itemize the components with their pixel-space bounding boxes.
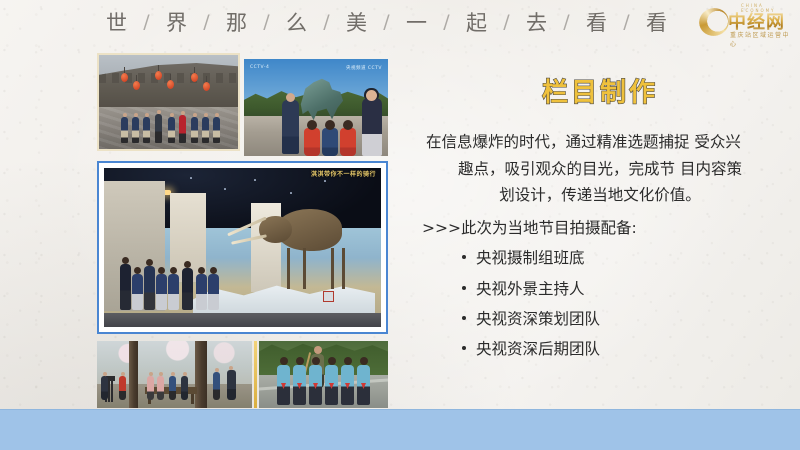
photo-collage: CCTV-4 央视频道 CCTV — [97, 53, 388, 408]
tree-trunk — [129, 341, 138, 408]
intro-paragraph: 在信息爆炸的时代，通过精准选题捕捉 受众兴 趣点，吸引观众的目光，完成节 目内容… — [426, 129, 774, 209]
photo-horse-statue-interview[interactable]: CCTV-4 央视频道 CCTV — [244, 59, 388, 156]
person-figure — [181, 376, 188, 400]
paragraph-line-2: 趣点，吸引观众的目光，完成节 目内容策 — [458, 160, 742, 178]
mammoth-leg — [303, 248, 306, 289]
photo-divider — [254, 341, 257, 408]
teacher-figure — [182, 268, 193, 310]
page-title: 栏目制作 — [420, 72, 780, 109]
visitor-figure — [156, 274, 167, 310]
header-char-0: 世 — [100, 7, 133, 37]
paragraph-line-3: 划设计，传递当地文化价值。 — [499, 186, 701, 204]
header-char-5: 一 — [400, 7, 433, 37]
child-figure — [322, 128, 338, 156]
lantern-icon — [155, 71, 162, 80]
photo-inner: 淇淇带你不一样的骑行 — [104, 168, 381, 327]
page-header: 世 / 界 / 那 / 么 / 美 / 一 / 起 / 去 / 看 / 看 CH… — [0, 0, 800, 48]
lantern-icon — [203, 82, 210, 91]
person-figure — [132, 117, 139, 143]
person-figure — [191, 117, 198, 143]
header-sep-1: / — [193, 11, 220, 33]
student-figure — [325, 365, 338, 405]
child-figure — [340, 128, 356, 156]
logo-swoosh-icon — [696, 5, 731, 39]
person-figure — [213, 117, 220, 143]
person-figure — [213, 372, 220, 400]
header-sep-2: / — [253, 11, 280, 33]
header-char-6: 起 — [460, 7, 493, 37]
footer-band — [0, 410, 800, 450]
woman-figure — [362, 98, 382, 156]
student-figure — [293, 365, 306, 405]
header-sep-0: / — [133, 11, 160, 33]
person-figure — [147, 376, 154, 400]
person-figure — [168, 117, 175, 143]
photo-watermark-left: CCTV-4 — [250, 65, 269, 70]
lantern-icon — [191, 73, 198, 82]
person-figure — [119, 376, 126, 400]
lantern-icon — [133, 81, 140, 90]
student-figure — [341, 365, 354, 405]
child-figure — [304, 128, 320, 156]
header-char-2: 那 — [220, 7, 253, 37]
lantern-icon — [167, 80, 174, 89]
person-figure — [202, 117, 209, 143]
header-sep-7: / — [553, 11, 580, 33]
photo-museum-mammoth[interactable]: 淇淇带你不一样的骑行 — [97, 161, 388, 334]
visitor-figure — [196, 274, 207, 310]
visitor-figure — [168, 274, 179, 310]
crew-figure — [101, 376, 108, 400]
ceiling-star — [224, 188, 226, 190]
lantern-icon — [121, 73, 128, 82]
photo-watermark-right: 央视频道 CCTV — [346, 65, 382, 71]
header-sep-6: / — [493, 11, 520, 33]
tree-trunk — [195, 341, 207, 408]
visitor-figure — [208, 274, 219, 310]
host-figure — [282, 100, 299, 154]
visitor-figure — [144, 266, 155, 310]
crew-bullet-list: 央视摄制组班底 央视外景主持人 央视资深策划团队 央视资深后期团队 — [420, 243, 780, 364]
header-sep-8: / — [613, 11, 640, 33]
photo-outdoor-filming[interactable] — [97, 341, 252, 408]
photo-great-wall-group[interactable] — [97, 53, 240, 151]
header-sep-4: / — [373, 11, 400, 33]
crew-figure — [227, 370, 236, 400]
list-lead-in: >>>此次为当地节目拍摄配备: — [422, 215, 780, 241]
header-char-3: 么 — [280, 7, 313, 37]
header-char-9: 看 — [640, 7, 673, 37]
photo-students-road[interactable] — [259, 341, 388, 408]
logo-sub-text: 重庆站区域运营中心 — [730, 30, 795, 48]
person-figure — [157, 376, 164, 400]
list-item: 央视外景主持人 — [462, 274, 780, 304]
student-figure — [357, 365, 370, 405]
person-figure — [143, 117, 150, 143]
person-figure — [121, 117, 128, 143]
student-figure — [277, 365, 290, 405]
header-char-1: 界 — [160, 7, 193, 37]
ceiling-star — [290, 192, 292, 194]
list-item: 央视摄制组班底 — [462, 243, 780, 273]
mammoth-leg — [331, 248, 334, 289]
header-char-4: 美 — [340, 7, 373, 37]
person-figure — [155, 114, 162, 143]
header-sep-5: / — [433, 11, 460, 33]
person-figure — [169, 376, 176, 400]
header-slogan: 世 / 界 / 那 / 么 / 美 / 一 / 起 / 去 / 看 / 看 — [100, 7, 673, 37]
photo-watermark: 淇淇带你不一样的骑行 — [311, 172, 376, 179]
mammoth-leg — [342, 248, 345, 289]
list-item: 央视资深策划团队 — [462, 304, 780, 334]
student-figure — [309, 365, 322, 405]
header-char-7: 去 — [520, 7, 553, 37]
visitor-figure — [132, 274, 143, 310]
header-char-8: 看 — [580, 7, 613, 37]
photo-floor-layer — [104, 313, 381, 327]
list-item: 央视资深后期团队 — [462, 334, 780, 364]
exhibit-sign — [323, 291, 334, 302]
visitor-figure — [120, 264, 131, 310]
mammoth-leg — [287, 248, 290, 289]
header-sep-3: / — [313, 11, 340, 33]
brand-logo[interactable]: CHINA ECONOMY 中经网 重庆站区域运营中心 — [697, 2, 795, 44]
ceiling-star — [324, 180, 326, 182]
ceiling-star — [190, 177, 192, 179]
ceiling-star — [254, 179, 256, 181]
paragraph-line-1: 在信息爆炸的时代，通过精准选题捕捉 受众兴 — [426, 129, 774, 156]
content-column: 栏目制作 在信息爆炸的时代，通过精准选题捕捉 受众兴 趣点，吸引观众的目光，完成… — [420, 72, 780, 364]
person-figure — [179, 115, 186, 143]
